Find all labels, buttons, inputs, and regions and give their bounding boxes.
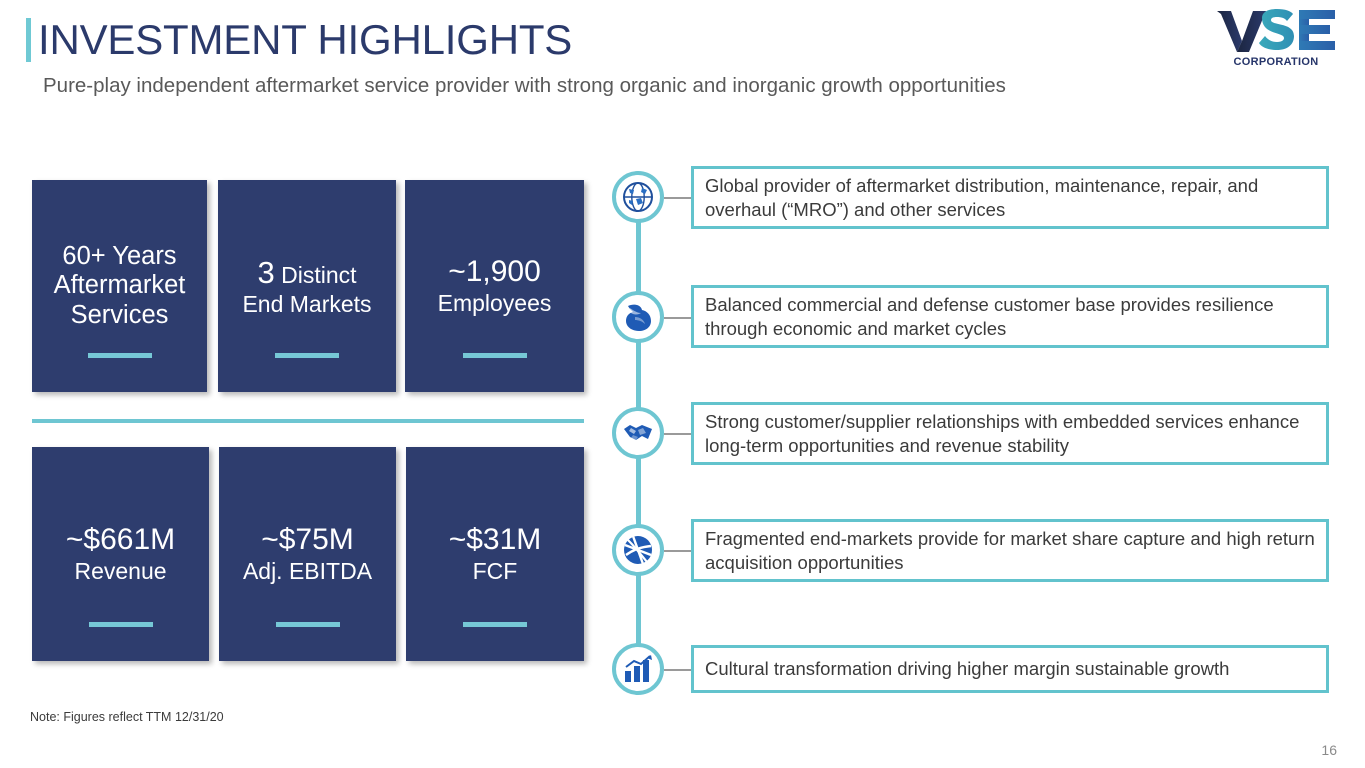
stat-line: ~$31M [449, 523, 542, 558]
globe-icon [612, 171, 664, 223]
page-title-row: INVESTMENT HIGHLIGHTS [26, 18, 572, 62]
stat-line: ~1,900 [438, 255, 552, 290]
title-accent-bar [26, 18, 31, 62]
highlight-connector [664, 317, 692, 319]
highlight-connector [664, 197, 692, 199]
stat-box-employees: ~1,900 Employees [405, 180, 584, 392]
highlight-text: Balanced commercial and defense customer… [705, 293, 1315, 340]
flexed-bicep-icon-glyph [622, 302, 654, 332]
page-subtitle: Pure-play independent aftermarket servic… [43, 74, 1006, 98]
stat-line: Employees [438, 290, 552, 317]
stat-label: Distinct [275, 262, 357, 288]
stat-box-distinct-end-markets: 3 Distinct End Markets [218, 180, 396, 392]
flexed-bicep-icon [612, 291, 664, 343]
bar-chart-growth-icon-glyph [623, 655, 653, 683]
stat-lines: ~$31M FCF [443, 523, 548, 584]
stat-underline [276, 622, 340, 627]
stat-line: ~$661M [66, 523, 175, 558]
highlight-callout-2: Balanced commercial and defense customer… [691, 285, 1329, 348]
stat-underline [463, 622, 527, 627]
stat-lines: 60+ Years Aftermarket Services [48, 242, 192, 331]
highlight-connector [664, 550, 692, 552]
stat-value: 3 [257, 255, 274, 290]
highlight-callout-3: Strong customer/supplier relationships w… [691, 402, 1329, 465]
handshake-icon-glyph [622, 420, 654, 446]
highlight-callout-5: Cultural transformation driving higher m… [691, 645, 1329, 693]
stat-line: 60+ Years [54, 242, 186, 272]
stat-box-years-aftermarket-services: 60+ Years Aftermarket Services [32, 180, 207, 392]
stat-underline [463, 353, 527, 358]
vse-corporation-logo: Corporation [1215, 8, 1337, 69]
highlight-text: Cultural transformation driving higher m… [705, 657, 1229, 680]
globe-icon-glyph [622, 181, 654, 213]
vse-logo-mark [1215, 8, 1337, 52]
fragmented-sphere-icon-glyph [622, 534, 654, 566]
highlight-connector [664, 433, 692, 435]
highlight-callout-1: Global provider of aftermarket distribut… [691, 166, 1329, 229]
stat-line: Revenue [66, 558, 175, 585]
highlight-text: Strong customer/supplier relationships w… [705, 410, 1315, 457]
slide: INVESTMENT HIGHLIGHTS Pure-play independ… [0, 0, 1365, 768]
stat-box-revenue: ~$661M Revenue [32, 447, 209, 661]
stat-underline [275, 353, 339, 358]
footnote: Note: Figures reflect TTM 12/31/20 [30, 710, 224, 724]
page-title: INVESTMENT HIGHLIGHTS [38, 19, 572, 61]
stat-line: Aftermarket [54, 271, 186, 301]
stat-underline [89, 622, 153, 627]
handshake-icon [612, 407, 664, 459]
stat-lines: ~$75M Adj. EBITDA [237, 523, 378, 584]
logo-wordmark: Corporation [1215, 53, 1337, 69]
stat-line: 3 Distinct [242, 255, 371, 291]
highlight-text: Fragmented end-markets provide for marke… [705, 527, 1315, 574]
stat-line: Adj. EBITDA [243, 558, 372, 585]
highlight-connector [664, 669, 692, 671]
bar-chart-growth-icon [612, 643, 664, 695]
stat-line: ~$75M [243, 523, 372, 558]
page-number: 16 [1321, 742, 1337, 758]
stat-box-adj-ebitda: ~$75M Adj. EBITDA [219, 447, 396, 661]
stat-line: End Markets [242, 291, 371, 318]
stat-row-divider [32, 419, 584, 423]
highlight-text: Global provider of aftermarket distribut… [705, 174, 1315, 221]
fragmented-sphere-icon [612, 524, 664, 576]
stat-lines: 3 Distinct End Markets [236, 255, 377, 318]
stat-line: FCF [449, 558, 542, 585]
stat-box-fcf: ~$31M FCF [406, 447, 584, 661]
stat-line: Services [54, 301, 186, 331]
stat-underline [88, 353, 152, 358]
stat-lines: ~1,900 Employees [432, 255, 558, 316]
stat-lines: ~$661M Revenue [60, 523, 181, 584]
highlight-callout-4: Fragmented end-markets provide for marke… [691, 519, 1329, 582]
